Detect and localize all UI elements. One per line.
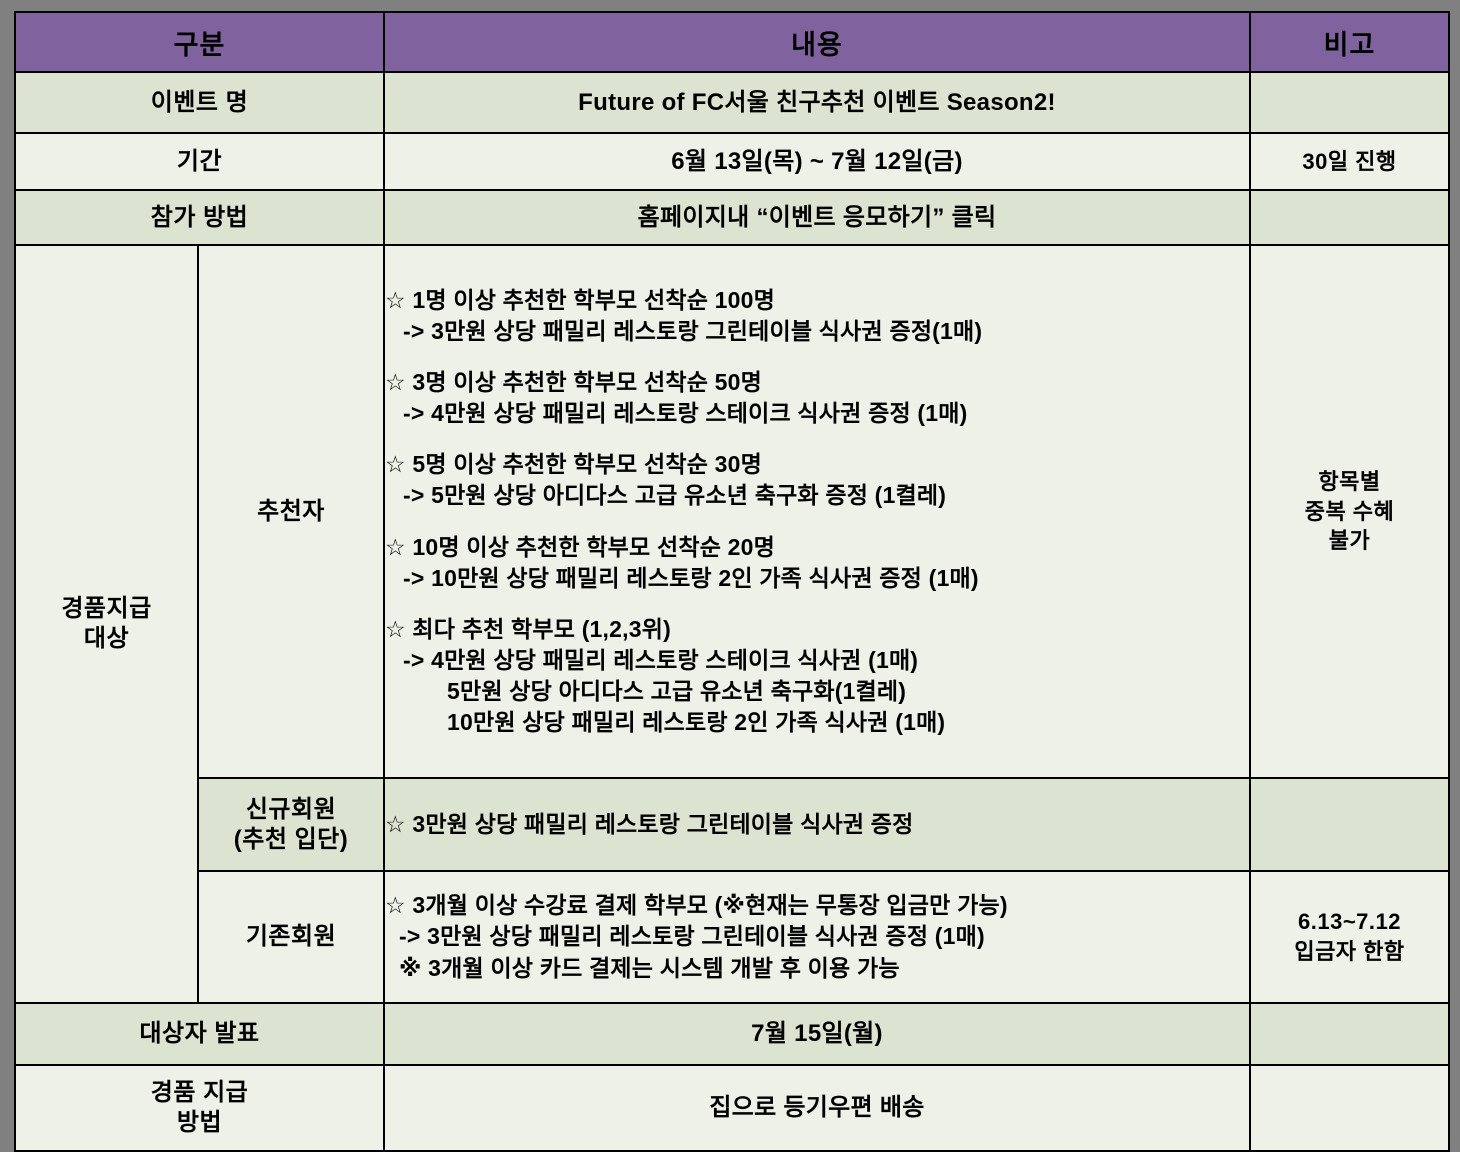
row-period: 기간 6월 13일(목) ~ 7월 12일(금) 30일 진행	[15, 133, 1449, 190]
existing-member-line: -> 3만원 상당 패밀리 레스토랑 그린테이블 식사권 증정 (1매)	[385, 921, 1249, 952]
value-period: 6월 13일(목) ~ 7월 12일(금)	[384, 133, 1250, 190]
label-prize-target: 경품지급 대상	[15, 245, 198, 1003]
label-prize-target-line1: 경품지급	[16, 594, 197, 624]
prize-sub: -> 3만원 상당 패밀리 레스토랑 그린테이블 식사권 증정(1매)	[385, 316, 1249, 347]
label-event-name: 이벤트 명	[15, 72, 384, 133]
note-line: 불가	[1251, 526, 1448, 556]
sublabel-existing-member: 기존회원	[198, 871, 384, 1003]
table-header-row: 구분 내용 비고	[15, 12, 1449, 72]
prize-sub: -> 5만원 상당 아디다스 고급 유소년 축구화 증정 (1켤레)	[385, 480, 1249, 511]
note-how-to-join	[1250, 190, 1449, 245]
prize-sub: -> 4만원 상당 패밀리 레스토랑 스테이크 식사권 (1매)	[385, 645, 1249, 676]
value-event-name: Future of FC서울 친구추천 이벤트 Season2!	[384, 72, 1250, 133]
label-delivery: 경품 지급 방법	[15, 1065, 384, 1151]
note-announcement	[1250, 1003, 1449, 1065]
prize-head: ☆ 3명 이상 추천한 학부모 선착순 50명	[385, 367, 1249, 398]
header-note: 비고	[1250, 12, 1449, 72]
sublabel-new-member: 신규회원 (추천 입단)	[198, 778, 384, 871]
new-member-line: ☆ 3만원 상당 패밀리 레스토랑 그린테이블 식사권 증정	[385, 809, 1249, 840]
note-period: 30일 진행	[1250, 133, 1449, 190]
prize-block: ☆ 5명 이상 추천한 학부모 선착순 30명 -> 5만원 상당 아디다스 고…	[385, 449, 1249, 511]
event-table-container: 구분 내용 비고 이벤트 명 Future of FC서울 친구추천 이벤트 S…	[14, 11, 1448, 1140]
label-announcement: 대상자 발표	[15, 1003, 384, 1065]
sublabel-recommender: 추천자	[198, 245, 384, 778]
existing-member-line: ※ 3개월 이상 카드 결제는 시스템 개발 후 이용 가능	[385, 953, 1249, 984]
row-event-name: 이벤트 명 Future of FC서울 친구추천 이벤트 Season2!	[15, 72, 1449, 133]
content-recommender: ☆ 1명 이상 추천한 학부모 선착순 100명 -> 3만원 상당 패밀리 레…	[384, 245, 1250, 778]
row-announcement: 대상자 발표 7월 15일(월)	[15, 1003, 1449, 1065]
header-content: 내용	[384, 12, 1250, 72]
note-event-name	[1250, 72, 1449, 133]
prize-sub-extra: 5만원 상당 아디다스 고급 유소년 축구화(1켤레)	[385, 676, 1249, 707]
prize-head: ☆ 최다 추천 학부모 (1,2,3위)	[385, 614, 1249, 645]
note-recommender: 항목별 중복 수혜 불가	[1250, 245, 1449, 778]
label-delivery-line2: 방법	[16, 1108, 383, 1138]
header-division: 구분	[15, 12, 384, 72]
note-line: 입금자 한함	[1251, 937, 1448, 967]
row-new-member: 신규회원 (추천 입단) ☆ 3만원 상당 패밀리 레스토랑 그린테이블 식사권…	[15, 778, 1449, 871]
label-period: 기간	[15, 133, 384, 190]
note-line: 6.13~7.12	[1251, 907, 1448, 937]
note-line: 항목별	[1251, 467, 1448, 497]
note-new-member	[1250, 778, 1449, 871]
value-announcement: 7월 15일(월)	[384, 1003, 1250, 1065]
prize-block: ☆ 1명 이상 추천한 학부모 선착순 100명 -> 3만원 상당 패밀리 레…	[385, 285, 1249, 347]
prize-block: ☆ 3명 이상 추천한 학부모 선착순 50명 -> 4만원 상당 패밀리 레스…	[385, 367, 1249, 429]
prize-head: ☆ 10명 이상 추천한 학부모 선착순 20명	[385, 532, 1249, 563]
prize-sub: -> 4만원 상당 패밀리 레스토랑 스테이크 식사권 증정 (1매)	[385, 398, 1249, 429]
label-prize-target-line2: 대상	[16, 624, 197, 654]
value-delivery: 집으로 등기우편 배송	[384, 1065, 1250, 1151]
row-recommender: 경품지급 대상 추천자 ☆ 1명 이상 추천한 학부모 선착순 100명 -> …	[15, 245, 1449, 778]
row-delivery: 경품 지급 방법 집으로 등기우편 배송	[15, 1065, 1449, 1151]
sublabel-new-member-line2: (추천 입단)	[199, 825, 383, 855]
note-existing-member: 6.13~7.12 입금자 한함	[1250, 871, 1449, 1003]
sublabel-new-member-line1: 신규회원	[199, 795, 383, 825]
row-how-to-join: 참가 방법 홈페이지내 “이벤트 응모하기” 클릭	[15, 190, 1449, 245]
value-how-to-join: 홈페이지내 “이벤트 응모하기” 클릭	[384, 190, 1250, 245]
label-delivery-line1: 경품 지급	[16, 1078, 383, 1108]
row-existing-member: 기존회원 ☆ 3개월 이상 수강료 결제 학부모 (※현재는 무통장 입금만 가…	[15, 871, 1449, 1003]
content-existing-member: ☆ 3개월 이상 수강료 결제 학부모 (※현재는 무통장 입금만 가능) ->…	[384, 871, 1250, 1003]
event-info-table: 구분 내용 비고 이벤트 명 Future of FC서울 친구추천 이벤트 S…	[14, 11, 1450, 1152]
existing-member-line: ☆ 3개월 이상 수강료 결제 학부모 (※현재는 무통장 입금만 가능)	[385, 890, 1249, 921]
prize-sub: -> 10만원 상당 패밀리 레스토랑 2인 가족 식사권 증정 (1매)	[385, 563, 1249, 594]
prize-sub-extra: 10만원 상당 패밀리 레스토랑 2인 가족 식사권 (1매)	[385, 707, 1249, 738]
note-line: 중복 수혜	[1251, 497, 1448, 527]
note-delivery	[1250, 1065, 1449, 1151]
prize-head: ☆ 1명 이상 추천한 학부모 선착순 100명	[385, 285, 1249, 316]
label-how-to-join: 참가 방법	[15, 190, 384, 245]
prize-block: ☆ 10명 이상 추천한 학부모 선착순 20명 -> 10만원 상당 패밀리 …	[385, 532, 1249, 594]
prize-head: ☆ 5명 이상 추천한 학부모 선착순 30명	[385, 449, 1249, 480]
prize-block: ☆ 최다 추천 학부모 (1,2,3위) -> 4만원 상당 패밀리 레스토랑 …	[385, 614, 1249, 738]
content-new-member: ☆ 3만원 상당 패밀리 레스토랑 그린테이블 식사권 증정	[384, 778, 1250, 871]
